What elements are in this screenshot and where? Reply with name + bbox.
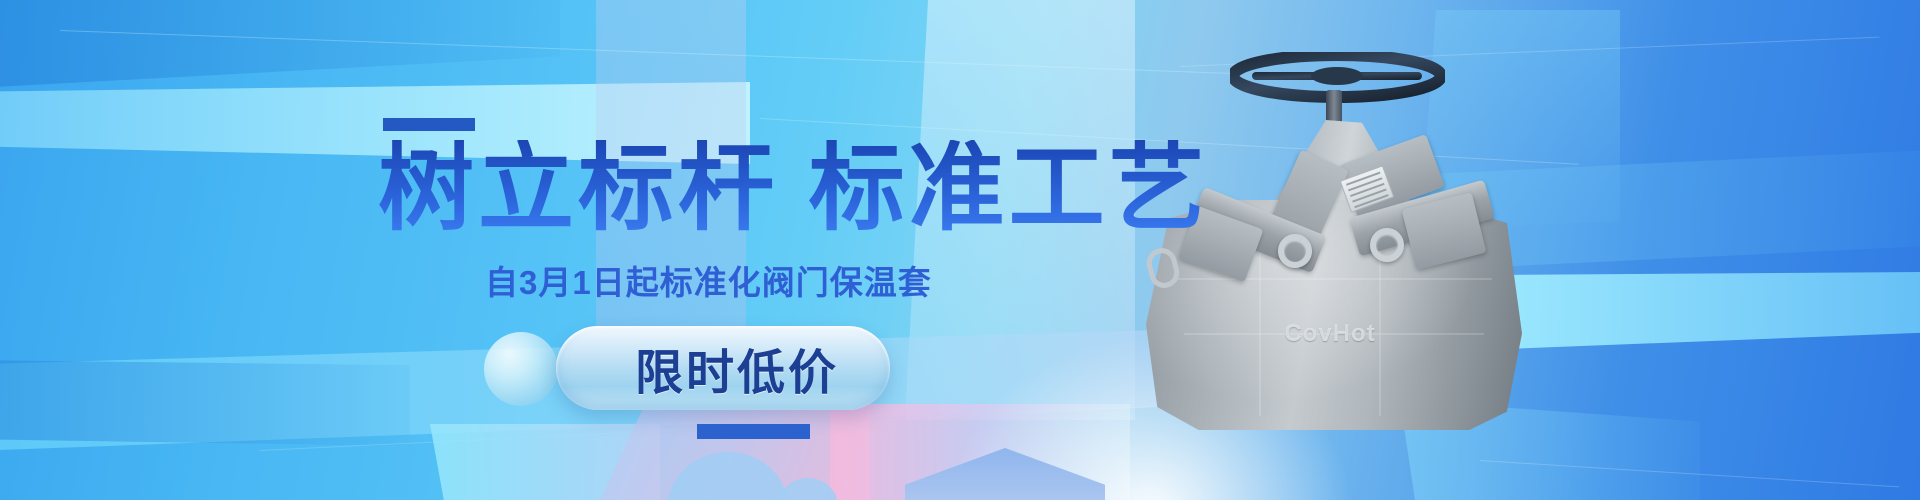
promo-banner: CovHot 树立标杆 标准工艺 自3月1日起标准化阀门保温套 限时低价 [0, 0, 1920, 500]
banner-content: 树立标杆 标准工艺 自3月1日起标准化阀门保温套 限时低价 [0, 0, 1920, 500]
underline-bar-icon [697, 424, 810, 439]
banner-subtitle: 自3月1日起标准化阀门保温套 [485, 256, 932, 304]
cta-button-label: 限时低价 [607, 333, 839, 403]
banner-headline: 树立标杆 标准工艺 [378, 140, 1209, 238]
accent-bar-icon [383, 118, 475, 131]
cta-button-limited-time-price[interactable]: 限时低价 [556, 326, 890, 410]
